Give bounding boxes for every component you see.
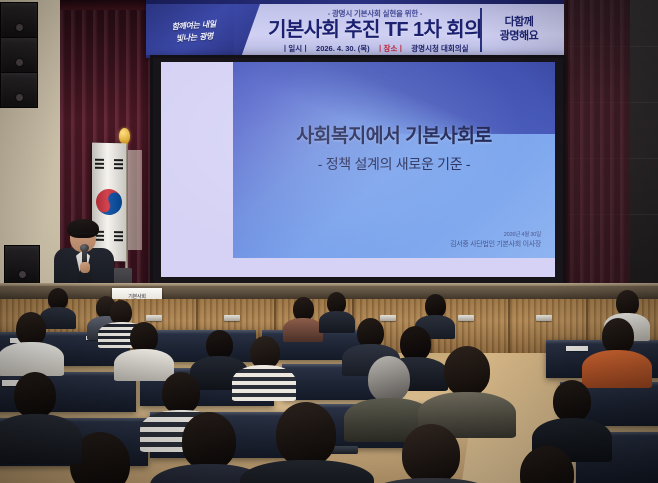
- banner-place-label: ㅣ장소ㅣ: [377, 43, 405, 54]
- banner-date-label: ㅣ일시ㅣ: [281, 43, 309, 54]
- event-banner: 함께여는 내일 빛나는 광명 - 광명시 기본사회 실현을 위한 - 기본사회 …: [146, 0, 564, 58]
- slide-title: 사회복지에서 기본사회로: [233, 119, 555, 148]
- audience-member: [428, 346, 506, 434]
- audience-member: [498, 446, 594, 483]
- banner-place-value: 광명시청 대회의실: [411, 43, 468, 54]
- banner-right-slogan-line2: 광명해요: [500, 30, 538, 44]
- stage-edge: [0, 283, 658, 286]
- loudspeaker-icon: [0, 37, 38, 73]
- projection-screen: 사회복지에서 기본사회로 - 정책 설계의 새로운 기준 - 2026년 4월 …: [161, 62, 555, 277]
- slide-credit-date: 2026년 4월 30일: [450, 232, 541, 239]
- audience-member: [540, 380, 604, 456]
- banner-kicker: - 광명시 기본사회 실현을 위한 -: [328, 8, 422, 19]
- banner-title: 기본사회 추진 TF 1차 회의: [268, 20, 482, 40]
- microphone-head-icon: [80, 244, 89, 252]
- audience-member: [378, 424, 482, 483]
- city-slogan-logo: 함께여는 내일 빛나는 광명: [146, 4, 242, 58]
- slide-credit: 2026년 4월 30일 김서중 사단법인 기본사회 이사장: [450, 232, 541, 249]
- flag-finial-icon: [119, 128, 130, 144]
- presenter-hand: [80, 262, 90, 273]
- loudspeaker-icon: [4, 245, 40, 287]
- slide-subtitle: - 정책 설계의 새로운 기준 -: [233, 154, 555, 174]
- banner-text-block: - 광명시 기본사회 실현을 위한 - 기본사회 추진 TF 1차 회의 ㅣ일시…: [250, 4, 500, 58]
- audience-member: [0, 372, 72, 458]
- banner-meta: ㅣ일시ㅣ 2026. 4. 30. (목) ㅣ장소ㅣ 광명시청 대회의실: [281, 43, 468, 54]
- loudspeaker-icon: [0, 72, 38, 108]
- city-slogan-script: 함께여는 내일 빛나는 광명: [171, 17, 217, 44]
- presenter-glasses-icon: [71, 233, 95, 240]
- presentation-slide: 사회복지에서 기본사회로 - 정책 설계의 새로운 기준 - 2026년 4월 …: [233, 62, 555, 258]
- projection-screen-frame: 사회복지에서 기본사회로 - 정책 설계의 새로운 기준 - 2026년 4월 …: [150, 55, 566, 289]
- audience-member: [4, 312, 58, 372]
- audience-member: [120, 322, 168, 378]
- banner-date-value: 2026. 4. 30. (목): [316, 43, 370, 54]
- audience-member: [238, 336, 290, 396]
- secondary-flag: [128, 150, 142, 250]
- conference-photo: 함께여는 내일 빛나는 광명 - 광명시 기본사회 실현을 위한 - 기본사회 …: [0, 0, 658, 483]
- audience-member: [286, 297, 320, 337]
- audience-member: [162, 412, 254, 483]
- banner-right-slogan: 다함께 광명해요: [480, 8, 556, 52]
- loudspeaker-icon: [0, 2, 38, 38]
- audience-member: [254, 402, 358, 483]
- slide-credit-speaker: 김서중 사단법인 기본사회 이사장: [450, 240, 541, 249]
- banner-right-slogan-line1: 다함께: [505, 16, 534, 30]
- audience-member: [588, 318, 646, 384]
